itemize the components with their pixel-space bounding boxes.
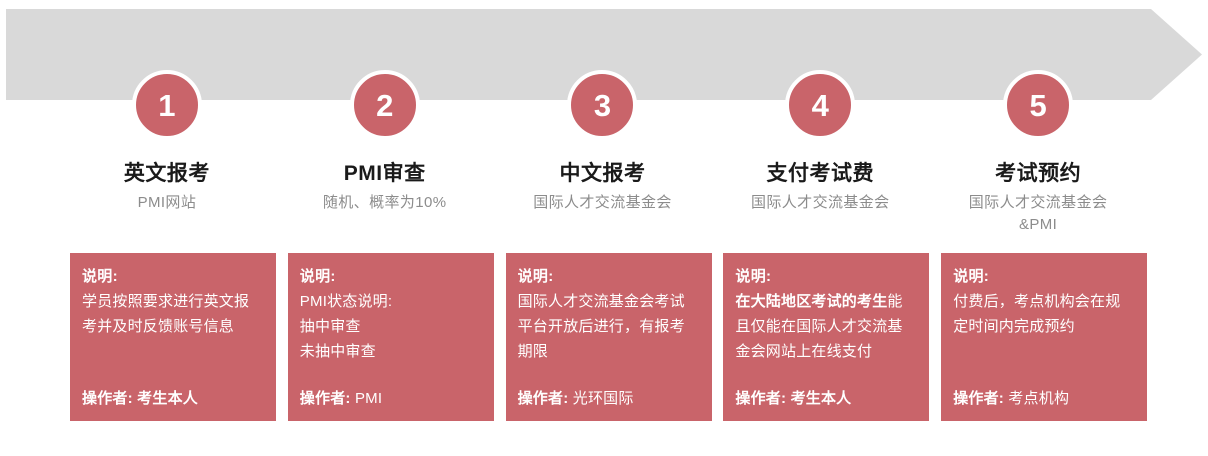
step-title: 支付考试费 <box>717 160 923 188</box>
step-subtitle: 随机、概率为10% <box>282 192 488 214</box>
card-description: 在大陆地区考试的考生能且仅能在国际人才交流基金会网站上在线支付 <box>735 289 917 364</box>
card-operator-label: 操作者: <box>82 390 133 407</box>
card-operator-label: 操作者: <box>518 390 569 407</box>
step-badge-wrap: 5 <box>1003 70 1073 140</box>
card-description-text: PMI状态说明: 抽中审查 未抽中审查 <box>300 293 392 360</box>
step-subtitle-line1: 随机、概率为10% <box>323 194 447 211</box>
step-subtitle: PMI网站 <box>64 192 270 214</box>
step-subtitle-line1: PMI网站 <box>138 194 197 211</box>
card-operator-label: 操作者: <box>735 390 786 407</box>
process-step: 3中文报考国际人才交流基金会说明:国际人才交流基金会考试平台开放后进行，有报考期… <box>506 0 700 456</box>
step-heading: 考试预约国际人才交流基金会&PMI <box>935 160 1141 236</box>
process-step: 4支付考试费国际人才交流基金会说明:在大陆地区考试的考生能且仅能在国际人才交流基… <box>723 0 917 456</box>
step-title: PMI审查 <box>282 160 488 188</box>
step-number-badge[interactable]: 3 <box>567 70 637 140</box>
card-operator-label: 操作者: <box>300 390 351 407</box>
card-operator-value: 考点机构 <box>1008 390 1069 407</box>
step-info-card: 说明:在大陆地区考试的考生能且仅能在国际人才交流基金会网站上在线支付操作者: 考… <box>723 253 929 421</box>
card-operator-value: 光环国际 <box>573 390 634 407</box>
card-operator-value: 考生本人 <box>137 390 198 407</box>
card-operator: 操作者: 光环国际 <box>518 386 700 411</box>
step-badge-wrap: 4 <box>785 70 855 140</box>
step-subtitle-line1: 国际人才交流基金会 <box>533 194 672 211</box>
step-number-badge[interactable]: 2 <box>350 70 420 140</box>
step-subtitle-line1: 国际人才交流基金会 <box>969 194 1108 211</box>
card-operator-value: 考生本人 <box>791 390 852 407</box>
card-spacer <box>518 364 700 386</box>
step-subtitle: 国际人才交流基金会 <box>717 192 923 214</box>
card-spacer <box>735 364 917 386</box>
card-description: PMI状态说明: 抽中审查 未抽中审查 <box>300 289 482 364</box>
card-label: 说明: <box>953 264 1135 289</box>
card-label: 说明: <box>735 264 917 289</box>
step-info-card: 说明:学员按照要求进行英文报考并及时反馈账号信息操作者: 考生本人 <box>70 253 276 421</box>
step-title: 中文报考 <box>500 160 706 188</box>
step-info-card: 说明:PMI状态说明: 抽中审查 未抽中审查操作者: PMI <box>288 253 494 421</box>
card-description-text: 付费后，考点机构会在规定时间内完成预约 <box>953 293 1120 335</box>
step-info-card: 说明:国际人才交流基金会考试平台开放后进行，有报考期限操作者: 光环国际 <box>506 253 712 421</box>
step-subtitle: 国际人才交流基金会&PMI <box>935 192 1141 236</box>
step-number-badge[interactable]: 1 <box>132 70 202 140</box>
step-number-badge[interactable]: 5 <box>1003 70 1073 140</box>
card-description: 付费后，考点机构会在规定时间内完成预约 <box>953 289 1135 339</box>
step-badge-wrap: 2 <box>350 70 420 140</box>
card-description-emphasis: 在大陆地区考试的考生 <box>735 293 887 310</box>
step-number-badge[interactable]: 4 <box>785 70 855 140</box>
step-heading: PMI审查随机、概率为10% <box>282 160 488 214</box>
card-label: 说明: <box>82 264 264 289</box>
card-label: 说明: <box>300 264 482 289</box>
card-description: 国际人才交流基金会考试平台开放后进行，有报考期限 <box>518 289 700 364</box>
card-spacer <box>300 364 482 386</box>
step-subtitle: 国际人才交流基金会 <box>500 192 706 214</box>
step-subtitle-line2: &PMI <box>935 214 1141 236</box>
card-operator: 操作者: PMI <box>300 386 482 411</box>
card-operator: 操作者: 考点机构 <box>953 386 1135 411</box>
step-badge-wrap: 3 <box>567 70 637 140</box>
process-steps: 1英文报考PMI网站说明:学员按照要求进行英文报考并及时反馈账号信息操作者: 考… <box>70 0 1135 456</box>
process-step: 2PMI审查随机、概率为10%说明:PMI状态说明: 抽中审查 未抽中审查操作者… <box>288 0 482 456</box>
card-operator: 操作者: 考生本人 <box>735 386 917 411</box>
card-operator-label: 操作者: <box>953 390 1004 407</box>
step-badge-wrap: 1 <box>132 70 202 140</box>
step-heading: 支付考试费国际人才交流基金会 <box>717 160 923 214</box>
step-heading: 中文报考国际人才交流基金会 <box>500 160 706 214</box>
card-operator-value: PMI <box>355 390 382 407</box>
card-description-text: 学员按照要求进行英文报考并及时反馈账号信息 <box>82 293 249 335</box>
card-operator: 操作者: 考生本人 <box>82 386 264 411</box>
process-step: 5考试预约国际人才交流基金会&PMI说明:付费后，考点机构会在规定时间内完成预约… <box>941 0 1135 456</box>
step-subtitle-line1: 国际人才交流基金会 <box>751 194 890 211</box>
step-heading: 英文报考PMI网站 <box>64 160 270 214</box>
card-description: 学员按照要求进行英文报考并及时反馈账号信息 <box>82 289 264 339</box>
card-spacer <box>82 339 264 386</box>
card-spacer <box>953 339 1135 386</box>
step-title: 英文报考 <box>64 160 270 188</box>
step-title: 考试预约 <box>935 160 1141 188</box>
process-step: 1英文报考PMI网站说明:学员按照要求进行英文报考并及时反馈账号信息操作者: 考… <box>70 0 264 456</box>
step-info-card: 说明:付费后，考点机构会在规定时间内完成预约操作者: 考点机构 <box>941 253 1147 421</box>
card-description-text: 国际人才交流基金会考试平台开放后进行，有报考期限 <box>518 293 685 360</box>
card-label: 说明: <box>518 264 700 289</box>
